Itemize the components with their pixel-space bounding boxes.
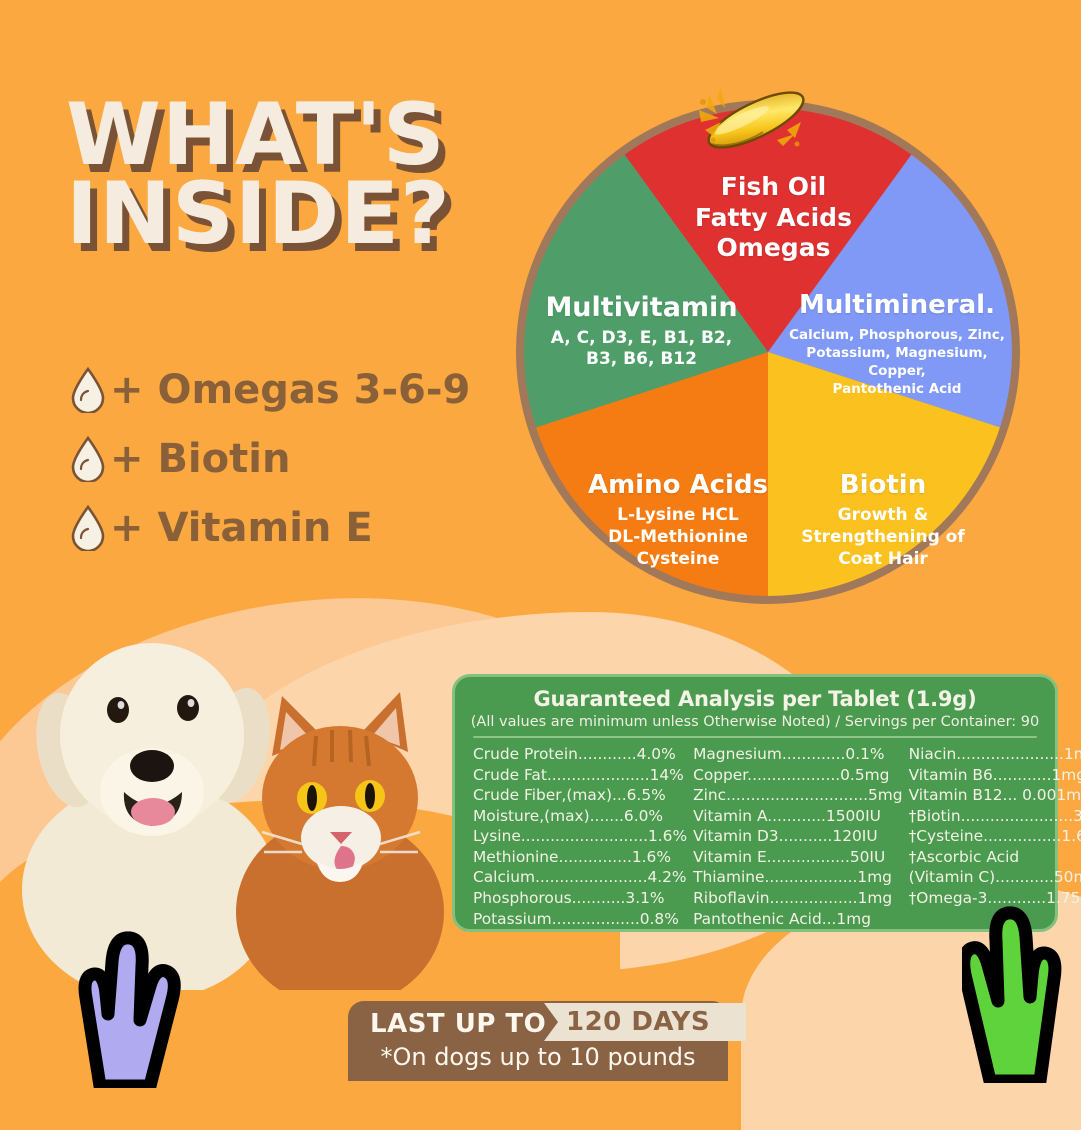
list-item: + Biotin [70,427,470,490]
guaranteed-analysis-title: Guaranteed Analysis per Tablet (1.9g) [467,687,1043,711]
list-item: + Vitamin E [70,496,470,559]
page-title-line-2: INSIDE? [66,175,451,254]
nutrient-row: Vitamin D3...........120IU [693,826,902,847]
nutrient-row: Crude Protein............4.0% [473,744,687,765]
nutrient-row: Copper...................0.5mg [693,765,902,786]
feature-list: + Omegas 3-6-9 + Biotin + Vitamin E [70,358,470,565]
guaranteed-analysis-subtitle: (All values are minimum unless Otherwise… [467,714,1043,730]
nutrient-row: †Ascorbic Acid [909,847,1081,868]
nutrient-row: Niacin......................1mg [909,744,1081,765]
nutrient-row: Vitamin B6............1mg [909,765,1081,786]
duration-banner: LAST UP TO 120 DAYS *On dogs up to 10 po… [348,1001,728,1081]
nutrient-column-2: Magnesium.............0.1% Copper.......… [693,744,902,929]
fish-oil-capsule-icon [691,74,821,166]
nutrient-row: Moisture,(max).......6.0% [473,806,687,827]
paw-print-icon [46,928,182,1088]
guaranteed-analysis-panel: Guaranteed Analysis per Tablet (1.9g) (A… [452,674,1058,932]
feature-label: + Omegas 3-6-9 [110,367,470,413]
nutrient-row: Vitamin A............1500IU [693,806,902,827]
feature-label: + Vitamin E [110,505,373,551]
droplet-icon [70,505,106,551]
nutrient-row: Vitamin B12... 0.001mg [909,785,1081,806]
nutrient-row: Pantothenic Acid...1mg [693,909,902,930]
nutrient-row: Vitamin E.................50IU [693,847,902,868]
nutrient-row: Crude Fiber,(max)...6.5% [473,785,687,806]
nutrient-column-3: Niacin......................1mg Vitamin … [909,744,1081,929]
paw-print-icon [962,905,1081,1083]
nutrient-row: †Biotin.......................3mg [909,806,1081,827]
pie-chart-slices [524,108,1012,596]
nutrient-row: Thiamine...................1mg [693,867,902,888]
page-title: WHAT'S INSIDE? [66,96,451,254]
nutrient-row: Magnesium.............0.1% [693,744,902,765]
guaranteed-analysis-columns: Crude Protein............4.0% Crude Fat.… [467,744,1043,929]
duration-banner-top: LAST UP TO 120 DAYS [348,1001,728,1041]
droplet-icon [70,436,106,482]
nutrient-column-1: Crude Protein............4.0% Crude Fat.… [473,744,687,929]
nutrient-row: Methionine...............1.6% [473,847,687,868]
duration-footnote: *On dogs up to 10 pounds [348,1043,728,1071]
nutrient-row: †Cysteine................1.6% [909,826,1081,847]
nutrient-row: Riboflavin..................1mg [693,888,902,909]
duration-lead-label: LAST UP TO [370,1009,546,1039]
nutrient-row: Lysine..........................1.6% [473,826,687,847]
duration-highlight-label: 120 DAYS [566,1007,710,1037]
droplet-icon [70,367,106,413]
nutrient-row: Potassium..................0.8% [473,909,687,930]
dog-and-cat-photo [0,560,470,990]
feature-label: + Biotin [110,436,290,482]
nutrient-row: Crude Fat.....................14% [473,765,687,786]
nutrient-row: Calcium.......................4.2% [473,867,687,888]
divider [473,736,1037,738]
nutrient-row: Zinc.............................5mg [693,785,902,806]
ingredients-pie-chart: Fish Oil Fatty Acids Omegas Multivitamin… [516,100,1020,604]
nutrient-row: Phosphorous...........3.1% [473,888,687,909]
nutrient-row: (Vitamin C)............50mg [909,867,1081,888]
duration-ribbon: 120 DAYS [544,1003,746,1041]
list-item: + Omegas 3-6-9 [70,358,470,421]
